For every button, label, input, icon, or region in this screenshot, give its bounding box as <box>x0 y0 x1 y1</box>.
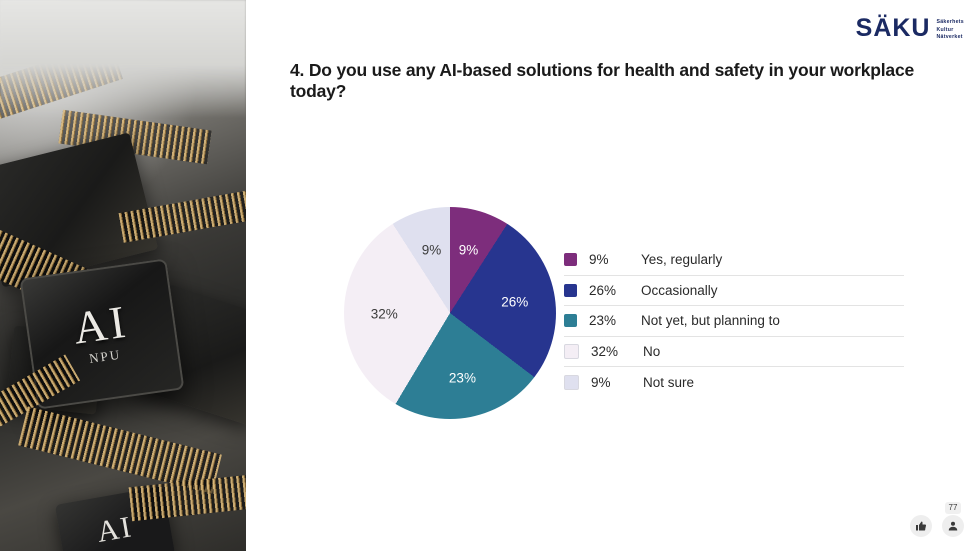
page-title: 4. Do you use any AI-based solutions for… <box>290 60 950 102</box>
legend-swatch-icon <box>564 375 579 390</box>
legend-item-no: 32% No <box>564 337 904 368</box>
pie-slice-label-yes-regularly: 9% <box>459 242 479 257</box>
ai-chip-secondary-label: AI <box>94 510 135 550</box>
legend-label: No <box>643 344 660 359</box>
legend-item-yes-regularly: 9% Yes, regularly <box>564 245 904 276</box>
image-top-blur-overlay <box>0 0 246 118</box>
legend-percent: 26% <box>589 283 641 298</box>
legend-percent: 9% <box>589 252 641 267</box>
chart-legend: 9% Yes, regularly 26% Occasionally 23% N… <box>564 245 904 397</box>
logo-subline-1: Säkerhets <box>936 19 964 26</box>
logo-sublines: Säkerhets Kultur Nätverket <box>936 16 964 41</box>
legend-percent: 23% <box>589 313 641 328</box>
legend-percent: 9% <box>591 375 643 390</box>
legend-swatch-icon <box>564 314 577 327</box>
legend-item-not-yet-planning: 23% Not yet, but planning to <box>564 306 904 337</box>
person-icon[interactable] <box>942 515 964 537</box>
legend-label: Occasionally <box>641 283 718 298</box>
logo-wordmark: SÄKU <box>856 16 931 41</box>
pie-slice-label-no: 32% <box>371 307 398 322</box>
logo-subline-2: Kultur <box>936 27 964 34</box>
thumbs-up-icon[interactable] <box>910 515 932 537</box>
participant-counter: 77 <box>942 502 964 537</box>
slide-background-image: AI NPU AI <box>0 0 246 551</box>
legend-percent: 32% <box>591 344 643 359</box>
slide-content: SÄKU Säkerhets Kultur Nätverket 4. Do yo… <box>246 0 980 551</box>
participant-count: 77 <box>945 502 962 514</box>
saku-logo: SÄKU Säkerhets Kultur Nätverket <box>856 16 964 41</box>
legend-swatch-icon <box>564 284 577 297</box>
legend-swatch-icon <box>564 253 577 266</box>
legend-swatch-icon <box>564 344 579 359</box>
pie-chart: 9% 26% 23% 32% 9% <box>344 207 556 419</box>
legend-label: Not yet, but planning to <box>641 313 780 328</box>
ai-chip-label: AI <box>71 300 131 351</box>
legend-item-occasionally: 26% Occasionally <box>564 276 904 307</box>
legend-item-not-sure: 9% Not sure <box>564 367 904 397</box>
legend-label: Not sure <box>643 375 694 390</box>
pie-slice-label-not-sure: 9% <box>422 242 442 257</box>
ai-chip-sublabel: NPU <box>88 346 122 366</box>
bottom-controls: 77 <box>910 502 964 537</box>
logo-subline-3: Nätverket <box>936 34 964 41</box>
pie-slice-label-planning-to: 23% <box>449 370 476 385</box>
legend-label: Yes, regularly <box>641 252 722 267</box>
pie-slice-label-occasionally: 26% <box>501 294 528 309</box>
